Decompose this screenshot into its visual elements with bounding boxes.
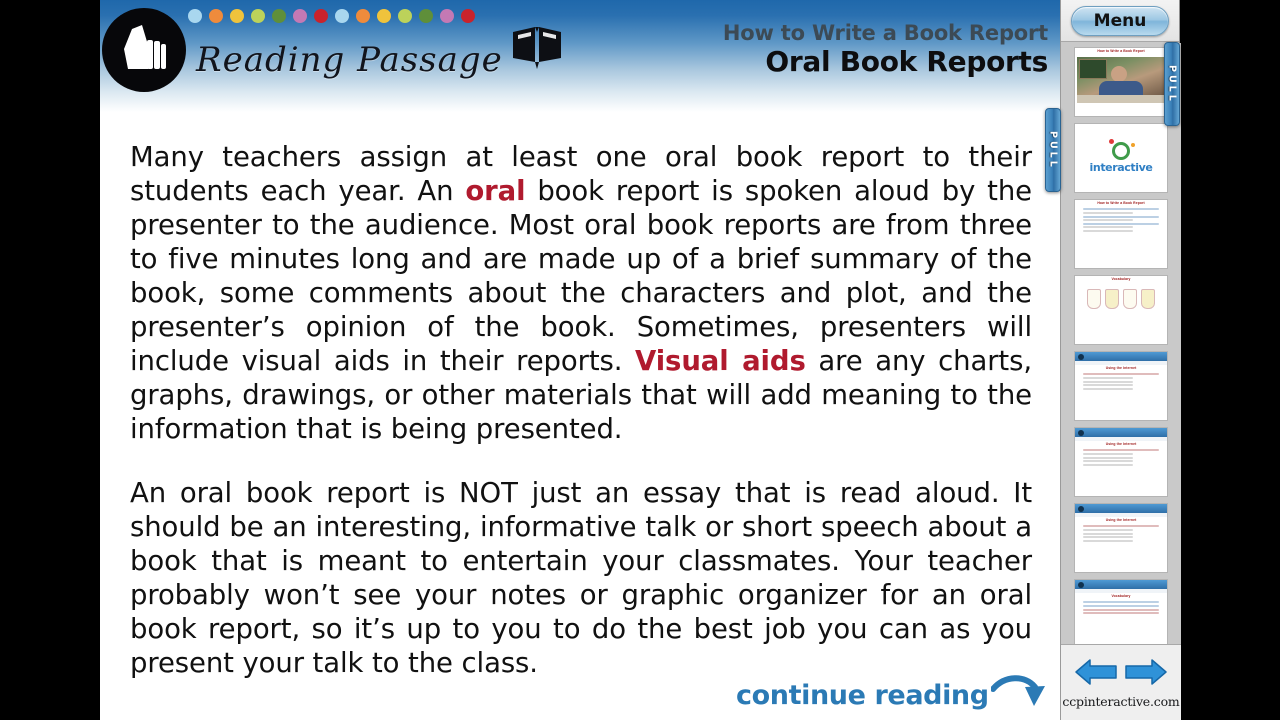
arrow-left-icon[interactable] xyxy=(1074,657,1118,692)
navigation-bar: ccpinteractive.com xyxy=(1061,644,1181,720)
passage-paragraph-2: An oral book report is NOT just an essay… xyxy=(130,476,1032,680)
slide-thumb-bullets[interactable]: How to Write a Book Report xyxy=(1074,199,1168,269)
pull-tab-label: PULL xyxy=(1167,65,1178,104)
decorative-dot xyxy=(461,9,475,23)
slide-thumb-title-photo[interactable]: How to Write a Book Report xyxy=(1074,47,1168,117)
decorative-dot xyxy=(272,9,286,23)
thumb-caption: interactive xyxy=(1090,161,1153,174)
slide-canvas: Reading Passage How to Write a Book Repo… xyxy=(100,0,1060,720)
curved-arrow-icon xyxy=(991,673,1047,718)
thumb-caption: Vocabulary xyxy=(1075,593,1167,600)
slide-thumb-activity-3[interactable]: Using the Internet xyxy=(1074,503,1168,573)
decorative-dot xyxy=(398,9,412,23)
decorative-dot-row xyxy=(188,9,475,23)
thumb-caption: Vocabulary xyxy=(1075,276,1167,283)
slide-thumbnail-strip[interactable]: How to Write a Book Report interactive H… xyxy=(1061,43,1181,645)
slide-header: Reading Passage How to Write a Book Repo… xyxy=(100,0,1060,112)
slide-thumb-interactive-logo[interactable]: interactive xyxy=(1074,123,1168,193)
decorative-dot xyxy=(356,9,370,23)
arrow-right-icon[interactable] xyxy=(1124,657,1168,692)
highlighted-term: Visual aids xyxy=(635,345,806,377)
decorative-dot xyxy=(314,9,328,23)
lesson-page-title: Oral Book Reports xyxy=(723,46,1048,78)
lesson-title-block: How to Write a Book Report Oral Book Rep… xyxy=(723,22,1048,78)
passage-text: An oral book report is NOT just an essay… xyxy=(130,477,1032,679)
pull-tab-right[interactable]: PULL xyxy=(1164,42,1180,126)
pointing-hand-icon xyxy=(102,8,186,92)
decorative-dot xyxy=(251,9,265,23)
decorative-dot xyxy=(188,9,202,23)
passage-paragraph-1: Many teachers assign at least one oral b… xyxy=(130,140,1032,446)
decorative-dot xyxy=(377,9,391,23)
decorative-dot xyxy=(419,9,433,23)
open-book-icon xyxy=(509,24,565,75)
brand-title: Reading Passage xyxy=(196,43,503,77)
brand-lockup: Reading Passage xyxy=(196,24,565,77)
thumb-caption: Using the Internet xyxy=(1075,441,1167,448)
decorative-dot xyxy=(335,9,349,23)
pull-tab-left[interactable]: PULL xyxy=(1045,108,1061,192)
menu-button[interactable]: Menu xyxy=(1071,6,1169,36)
thumb-logo: interactive xyxy=(1075,124,1167,192)
thumb-caption: Using the Internet xyxy=(1075,517,1167,524)
continue-reading-label: continue reading xyxy=(736,680,989,711)
slide-thumb-activity-2[interactable]: Using the Internet xyxy=(1074,427,1168,497)
slide-thumb-activity-1[interactable]: Using the Internet xyxy=(1074,351,1168,421)
slide-thumb-table[interactable]: Vocabulary xyxy=(1074,579,1168,645)
continue-reading-link[interactable]: continue reading xyxy=(736,673,1047,718)
decorative-dot xyxy=(209,9,223,23)
decorative-dot xyxy=(293,9,307,23)
decorative-dot xyxy=(230,9,244,23)
thumb-caption: How to Write a Book Report xyxy=(1075,48,1167,55)
navigator-panel: Menu How to Write a Book Report interact… xyxy=(1060,0,1180,720)
thumb-photo xyxy=(1077,57,1165,103)
slide-stage: Reading Passage How to Write a Book Repo… xyxy=(0,0,1280,720)
reading-passage-body: Many teachers assign at least one oral b… xyxy=(130,140,1032,680)
decorative-dot xyxy=(440,9,454,23)
thumb-caption: How to Write a Book Report xyxy=(1075,200,1167,207)
slide-thumb-vocab-cards[interactable]: Vocabulary xyxy=(1074,275,1168,345)
menu-bar: Menu xyxy=(1061,0,1179,42)
site-url-label: ccpinteractive.com xyxy=(1062,694,1179,709)
lesson-series-title: How to Write a Book Report xyxy=(723,22,1048,44)
thumb-caption: Using the Internet xyxy=(1075,365,1167,372)
pull-tab-label: PULL xyxy=(1048,131,1059,170)
highlighted-term: oral xyxy=(465,175,525,207)
